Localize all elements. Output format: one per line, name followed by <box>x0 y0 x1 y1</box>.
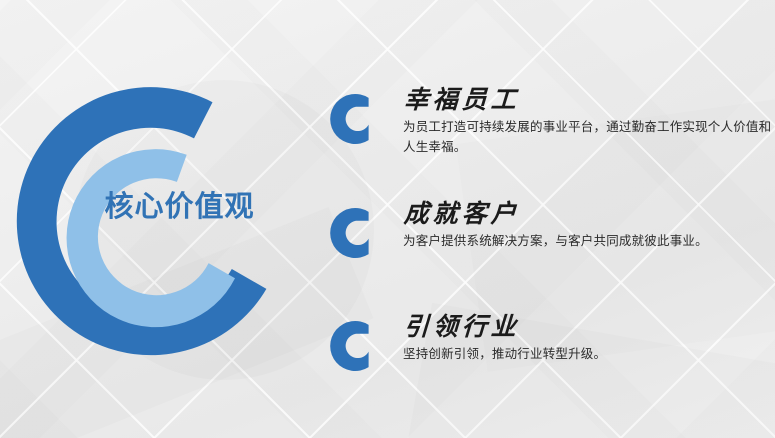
list-item-description: 为员工打造可持续发展的事业平台，通过勤奋工作实现个人价值和人生幸福。 <box>403 118 775 157</box>
background-band <box>345 0 775 13</box>
core-values-donut <box>16 78 316 378</box>
list-item-title: 引领行业 <box>403 315 775 341</box>
list-item-title: 幸福员工 <box>403 88 775 114</box>
list-item[interactable]: 幸福员工 为员工打造可持续发展的事业平台，通过勤奋工作实现个人价值和人生幸福。 <box>325 86 765 157</box>
list-item[interactable]: 成就客户 为客户提供系统解决方案，与客户共同成就彼此事业。 <box>325 200 765 264</box>
list-item-text: 引领行业 坚持创新引领，推动行业转型升级。 <box>387 313 775 365</box>
list-item-text: 成就客户 为客户提供系统解决方案，与客户共同成就彼此事业。 <box>387 200 775 252</box>
c-ring-icon <box>325 202 387 264</box>
page-title: 核心价值观 <box>82 193 277 222</box>
list-item[interactable]: 引领行业 坚持创新引领，推动行业转型升级。 <box>325 313 765 377</box>
list-item-text: 幸福员工 为员工打造可持续发展的事业平台，通过勤奋工作实现个人价值和人生幸福。 <box>387 86 775 157</box>
c-ring-icon <box>325 315 387 377</box>
slide-canvas: 核心价值观 幸福员工 为员工打造可持续发展的事业平台，通过勤奋工作实现个人价值和… <box>0 0 775 438</box>
list-item-description: 为客户提供系统解决方案，与客户共同成就彼此事业。 <box>403 232 775 251</box>
list-item-title: 成就客户 <box>403 202 775 228</box>
list-item-description: 坚持创新引领，推动行业转型升级。 <box>403 345 775 364</box>
values-list: 幸福员工 为员工打造可持续发展的事业平台，通过勤奋工作实现个人价值和人生幸福。 … <box>325 78 765 398</box>
c-ring-icon <box>325 88 387 150</box>
